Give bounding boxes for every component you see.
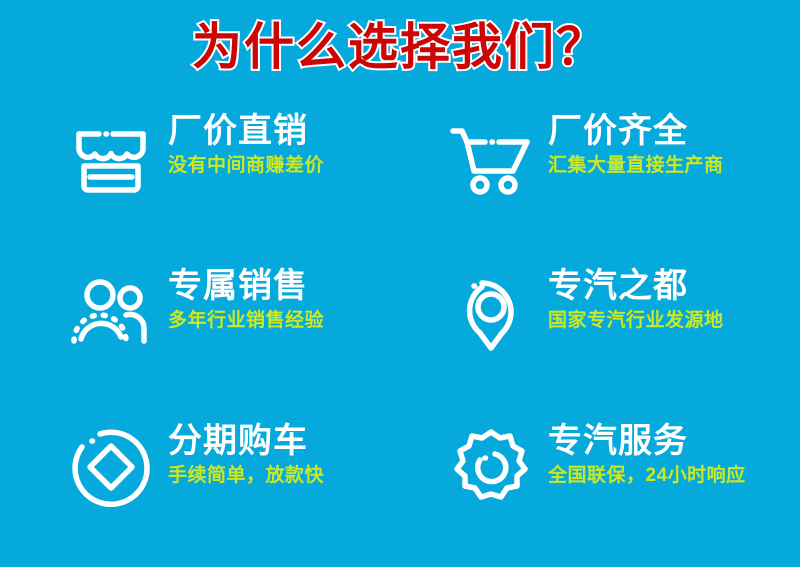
feature-heading: 分期购车 [168,422,324,461]
feature-item-factory-direct-sales: 厂价直销 没有中间商赚差价 [0,108,400,200]
two-people-icon [68,269,154,355]
feature-text-block: 专属销售 多年行业销售经验 [168,263,324,333]
feature-item-dedicated-sales: 专属销售 多年行业销售经验 [0,263,400,355]
feature-subtitle: 没有中间商赚差价 [168,155,324,178]
feature-subtitle: 手续简单，放款快 [168,465,324,488]
feature-text-block: 分期购车 手续简单，放款快 [168,418,324,488]
banner-title-container: 为什么选择我们？ [0,22,800,72]
feature-subtitle: 全国联保，24小时响应 [548,465,746,488]
feature-item-special-vehicle-capital: 专汽之都 国家专汽行业发源地 [400,263,800,355]
feature-item-installment-purchase: 分期购车 手续简单，放款快 [0,418,400,510]
feature-text-block: 专汽服务 全国联保，24小时响应 [548,418,746,488]
feature-heading: 厂价齐全 [548,112,724,151]
feature-heading: 专属销售 [168,267,324,306]
feature-subtitle: 多年行业销售经验 [168,310,324,333]
feature-subtitle: 汇集大量直接生产商 [548,155,724,178]
location-pin-icon [448,269,534,355]
feature-text-block: 专汽之都 国家专汽行业发源地 [548,263,724,333]
feature-grid: 厂价直销 没有中间商赚差价 厂价齐全 汇集大量直接生产商 [0,108,800,528]
feature-subtitle: 国家专汽行业发源地 [548,310,724,333]
feature-text-block: 厂价直销 没有中间商赚差价 [168,108,324,178]
shopping-cart-icon [448,114,534,200]
feature-item-full-price-range: 厂价齐全 汇集大量直接生产商 [400,108,800,200]
storefront-icon [68,114,154,200]
gear-icon [448,424,534,510]
feature-heading: 厂价直销 [168,112,324,151]
circle-diamond-icon [68,424,154,510]
feature-heading: 专汽之都 [548,267,724,306]
feature-text-block: 厂价齐全 汇集大量直接生产商 [548,108,724,178]
feature-heading: 专汽服务 [548,422,746,461]
promo-banner: 为什么选择我们？ 厂价直销 没有中间商赚差价 [0,0,800,567]
page-title: 为什么选择我们？ [192,22,608,72]
feature-item-special-vehicle-service: 专汽服务 全国联保，24小时响应 [400,418,800,510]
